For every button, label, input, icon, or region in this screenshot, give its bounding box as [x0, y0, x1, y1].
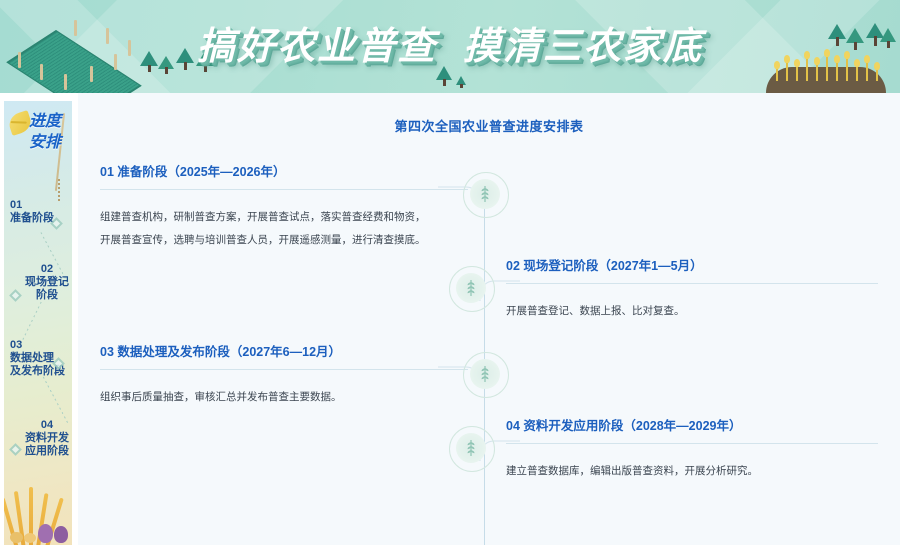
timeline-card-stage-01[interactable]: 01 准备阶段（2025年—2026年） 组建普查机构，研制普查方案，开展普查试… — [100, 161, 468, 252]
timeline-card-stage-03[interactable]: 03 数据处理及发布阶段（2027年6—12月） 组织事后质量抽查，审核汇总并发… — [100, 341, 468, 409]
stage-body-line: 建立普查数据库，编辑出版普查资料，开展分析研究。 — [506, 460, 878, 483]
page-title: 第四次全国农业普查进度安排表 — [78, 116, 900, 135]
wheat-icon — [464, 439, 478, 457]
stage-body: 组建普查机构，研制普查方案，开展普查试点，落实普查经费和物资， 开展普查宣传，选… — [100, 190, 468, 252]
banner-title-part2: 摸清三农家底 — [463, 26, 703, 68]
vegetable-icon — [38, 524, 53, 543]
timeline-node-stage-04[interactable] — [456, 433, 486, 463]
sidebar-title: 进度安排 — [28, 111, 62, 153]
sidebar-stage-number: 03 — [10, 339, 72, 352]
stage-heading: 01 准备阶段（2025年—2026年） — [100, 161, 468, 189]
stage-body-line: 组织事后质量抽查，审核汇总并发布普查主要数据。 — [100, 386, 468, 409]
sidebar-path-segment — [40, 372, 68, 424]
timeline-node-stage-02[interactable] — [456, 273, 486, 303]
sidebar-item-stage-01[interactable]: 01 准备阶段 — [6, 199, 72, 225]
timeline-card-stage-04[interactable]: 04 资料开发应用阶段（2028年—2029年） 建立普查数据库，编辑出版普查资… — [506, 415, 878, 483]
sidebar: 进度安排 01 准备阶段 02 现场登记 阶段 03 数据处理 及发布阶段 04 — [4, 101, 72, 545]
wheat-icon — [464, 279, 478, 297]
stage-heading: 04 资料开发应用阶段（2028年—2029年） — [506, 415, 878, 443]
sidebar-stage-label: 现场登记 阶段 — [16, 276, 72, 302]
stage-body: 组织事后质量抽查，审核汇总并发布普查主要数据。 — [100, 370, 468, 409]
stage-body-line: 开展普查宣传，选聘与培训普查人员，开展遥感测量，进行清查摸底。 — [100, 229, 468, 252]
page-root: 搞好农业普查摸清三农家底 进度安排 01 准备阶段 02 现场登记 阶段 — [0, 0, 900, 545]
timeline-node-stage-03[interactable] — [470, 359, 500, 389]
stage-body: 开展普查登记、数据上报、比对复查。 — [506, 284, 878, 323]
timeline-node-stage-01[interactable] — [470, 179, 500, 209]
stage-body: 建立普查数据库，编辑出版普查资料，开展分析研究。 — [506, 444, 878, 483]
sidebar-stage-number: 02 — [16, 263, 72, 276]
sidebar-stage-label: 资料开发 应用阶段 — [16, 432, 72, 458]
banner: 搞好农业普查摸清三农家底 — [0, 0, 900, 93]
sidebar-harvest-decoration — [4, 469, 72, 545]
sidebar-item-stage-03[interactable]: 03 数据处理 及发布阶段 — [6, 339, 72, 378]
timeline-card-stage-02[interactable]: 02 现场登记阶段（2027年1—5月） 开展普查登记、数据上报、比对复查。 — [506, 255, 878, 323]
stage-heading: 03 数据处理及发布阶段（2027年6—12月） — [100, 341, 468, 369]
sidebar-stage-number: 01 — [10, 199, 72, 212]
vegetable-icon — [10, 532, 23, 543]
vegetable-icon — [24, 533, 36, 543]
vegetable-icon — [54, 526, 68, 543]
banner-title: 搞好农业普查摸清三农家底 — [0, 17, 900, 77]
content-area: 第四次全国农业普查进度安排表 01 准备阶段（2025年—2026年） 组建普查… — [78, 93, 900, 545]
body-area: 进度安排 01 准备阶段 02 现场登记 阶段 03 数据处理 及发布阶段 04 — [0, 93, 900, 545]
stage-body-line: 组建普查机构，研制普查方案，开展普查试点，落实普查经费和物资， — [100, 206, 468, 229]
stage-heading: 02 现场登记阶段（2027年1—5月） — [506, 255, 878, 283]
stage-body-line: 开展普查登记、数据上报、比对复查。 — [506, 300, 878, 323]
sidebar-stage-number: 04 — [16, 419, 72, 432]
wheat-icon — [478, 365, 492, 383]
banner-title-part1: 搞好农业普查 — [197, 26, 437, 68]
wheat-icon — [478, 185, 492, 203]
